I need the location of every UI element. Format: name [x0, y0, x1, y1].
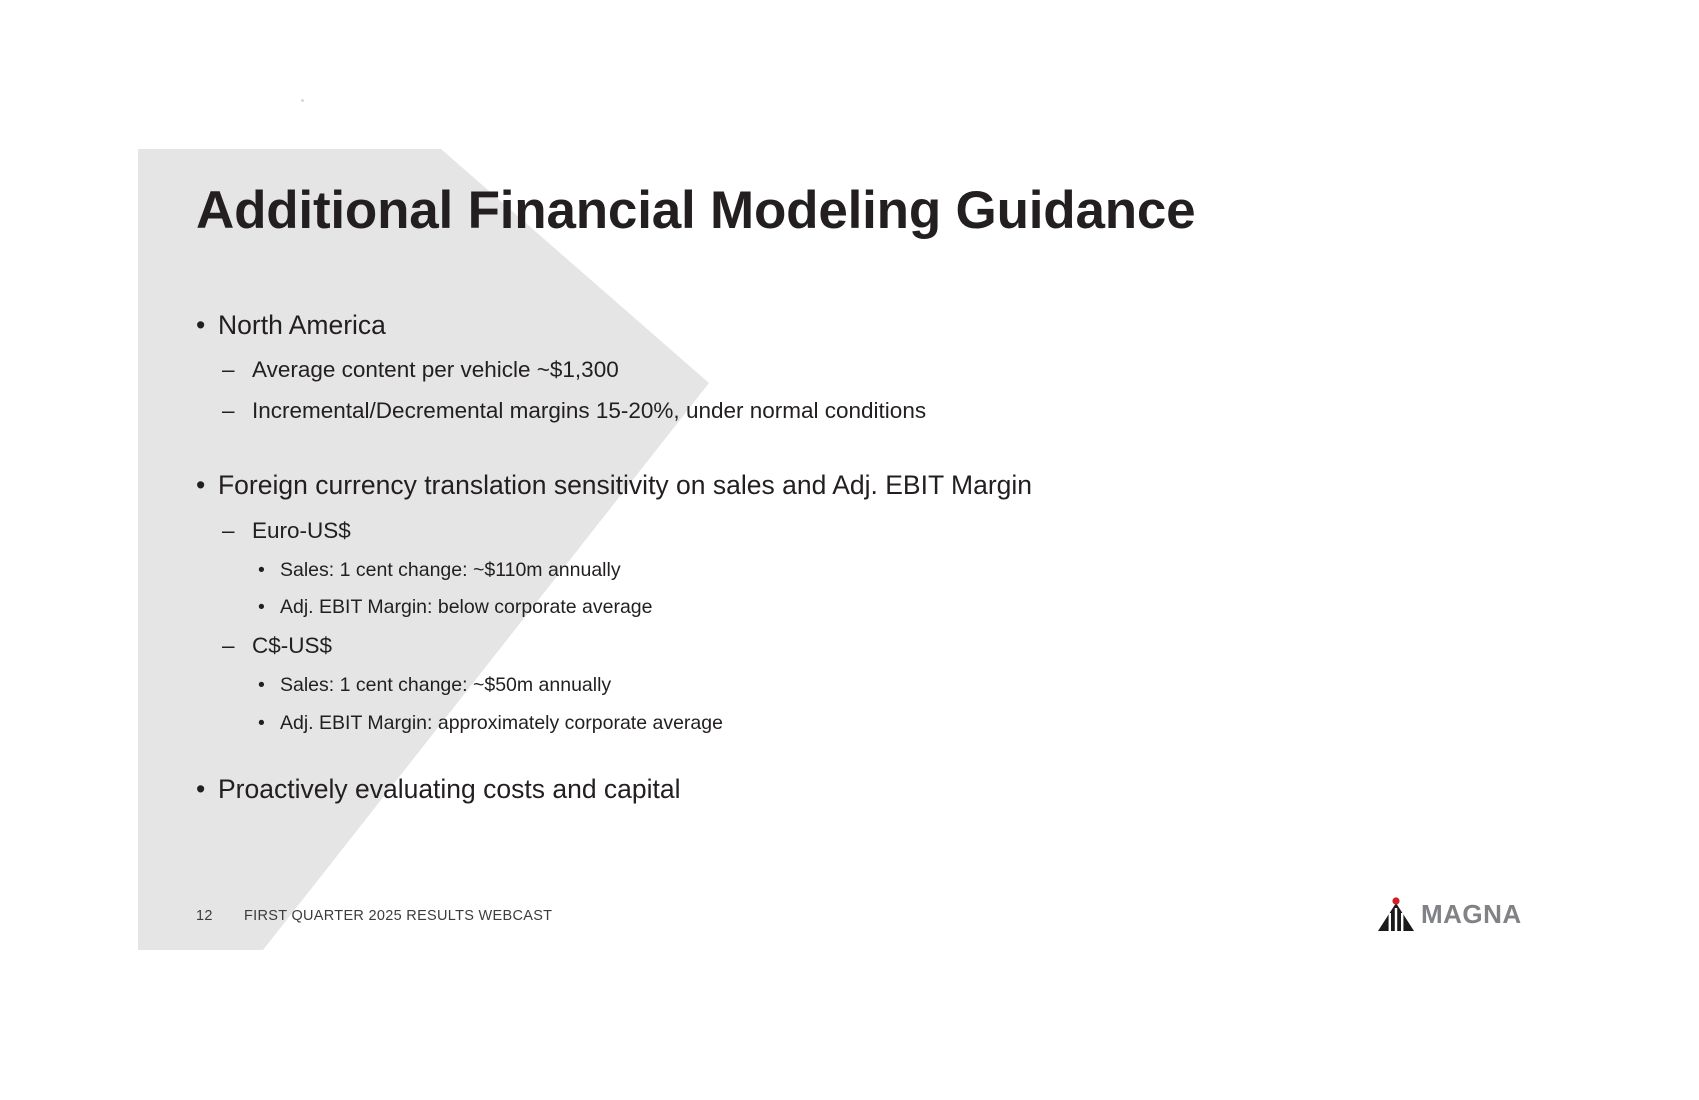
bullet-item-north-america: • North America — [196, 310, 1496, 340]
bullet-text: Proactively evaluating costs and capital — [218, 774, 681, 804]
bullet-text: Sales: 1 cent change: ~$50m annually — [280, 674, 611, 696]
bullet-text: Average content per vehicle ~$1,300 — [252, 357, 619, 382]
bullet-text: Incremental/Decremental margins 15-20%, … — [252, 398, 926, 423]
bullet-text: C$-US$ — [252, 633, 332, 658]
page-title: Additional Financial Modeling Guidance — [196, 182, 1195, 240]
bullet-item-proactively-evaluating: • Proactively evaluating costs and capit… — [196, 774, 1496, 804]
bullet-list: • North America – Average content per ve… — [196, 310, 1496, 809]
footer-deck-name: FIRST QUARTER 2025 RESULTS WEBCAST — [244, 908, 552, 924]
bullet-marker-dot: • — [258, 596, 265, 618]
spacer — [196, 699, 1496, 712]
bullet-item-cad-ebit-margin: • Adj. EBIT Margin: approximately corpor… — [196, 712, 1496, 734]
spacer — [196, 385, 1496, 398]
spacer — [196, 620, 1496, 633]
bullet-marker-dot: • — [258, 712, 265, 734]
bullet-item-average-content: – Average content per vehicle ~$1,300 — [196, 357, 1496, 383]
slide-canvas: Additional Financial Modeling Guidance •… — [0, 0, 1699, 1100]
spacer — [196, 426, 1496, 470]
bullet-item-euro-ebit-margin: • Adj. EBIT Margin: below corporate aver… — [196, 596, 1496, 618]
bullet-text: Foreign currency translation sensitivity… — [218, 470, 1032, 500]
magna-logo: MAGNA — [1377, 894, 1541, 936]
svg-text:MAGNA: MAGNA — [1421, 901, 1522, 929]
bullet-marker-dot: • — [258, 559, 265, 581]
bullet-marker-dot: • — [196, 774, 205, 804]
slide-footer: 12FIRST QUARTER 2025 RESULTS WEBCAST — [196, 908, 552, 924]
bullet-text: Euro-US$ — [252, 518, 351, 543]
bullet-item-euro-sales: • Sales: 1 cent change: ~$110m annually — [196, 559, 1496, 581]
spacer — [196, 736, 1496, 774]
bullet-marker-dot: • — [258, 674, 265, 696]
page-number: 12 — [196, 908, 244, 924]
bullet-text: Adj. EBIT Margin: below corporate averag… — [280, 596, 653, 618]
bullet-item-fx-sensitivity: • Foreign currency translation sensitivi… — [196, 470, 1496, 500]
spacer — [196, 546, 1496, 559]
decorative-speck — [301, 99, 304, 102]
spacer — [196, 661, 1496, 674]
bullet-marker-dot: • — [196, 470, 205, 500]
bullet-marker-dash: – — [222, 398, 235, 424]
bullet-marker-dot: • — [196, 310, 205, 340]
bullet-marker-dash: – — [222, 518, 235, 544]
bullet-item-incremental-margins: – Incremental/Decremental margins 15-20%… — [196, 398, 1496, 424]
bullet-text: Sales: 1 cent change: ~$110m annually — [280, 559, 621, 581]
magna-triangle-mark-icon — [1377, 897, 1415, 933]
spacer — [196, 344, 1496, 357]
spacer — [196, 583, 1496, 596]
bullet-text: North America — [218, 310, 386, 340]
bullet-item-cad-sales: • Sales: 1 cent change: ~$50m annually — [196, 674, 1496, 696]
bullet-text: Adj. EBIT Margin: approximately corporat… — [280, 712, 723, 734]
bullet-marker-dash: – — [222, 357, 235, 383]
bullet-marker-dash: – — [222, 633, 235, 659]
bullet-item-euro-usd: – Euro-US$ — [196, 518, 1496, 544]
magna-wordmark: MAGNA — [1421, 901, 1541, 929]
spacer — [196, 505, 1496, 518]
bullet-item-cad-usd: – C$-US$ — [196, 633, 1496, 659]
